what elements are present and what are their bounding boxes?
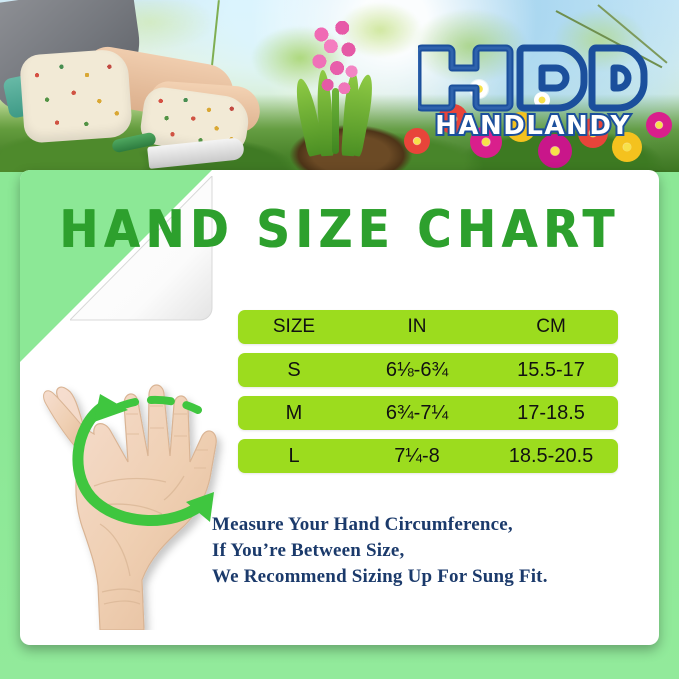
banner-flower	[538, 134, 572, 168]
cell-in-l: 7¼-8	[350, 445, 484, 468]
table-header-row: SIZE IN CM	[238, 310, 618, 344]
cell-cm-l: 18.5-20.5	[484, 445, 618, 468]
table-row-small: S 6⅛-6¾ 15.5-17	[238, 353, 618, 387]
logo-wordmark: HANDLANDY	[435, 111, 631, 138]
cell-size-l: L	[238, 445, 350, 468]
cell-cm-s: 15.5-17	[484, 359, 618, 382]
cell-size-m: M	[238, 402, 350, 425]
column-header-in: IN	[350, 316, 484, 338]
column-header-cm: CM	[484, 316, 618, 338]
sizing-instructions-line-3: We Recommend Sizing Up For Sung Fit.	[212, 564, 548, 590]
banner-floral-glove	[19, 48, 133, 143]
column-header-size: SIZE	[238, 316, 350, 338]
table-row-large: L 7¼-8 18.5-20.5	[238, 439, 618, 473]
page-title-text: HAND SIZE CHART	[59, 199, 619, 259]
cell-size-s: S	[238, 359, 350, 382]
sizing-instructions: Measure Your Hand Circumference, If You’…	[212, 512, 548, 590]
page-title: HAND SIZE CHART	[20, 202, 659, 256]
cell-in-s: 6⅛-6¾	[350, 359, 484, 382]
table-row-medium: M 6¾-7¼ 17-18.5	[238, 396, 618, 430]
brand-logo: HANDLANDY	[418, 42, 648, 138]
cell-in-m: 6¾-7¼	[350, 402, 484, 425]
sizing-instructions-line-1: Measure Your Hand Circumference,	[212, 512, 548, 538]
size-table: SIZE IN CM S 6⅛-6¾ 15.5-17 M 6¾-7¼ 17-18…	[238, 310, 618, 482]
banner-flower	[646, 112, 672, 138]
banner-pink-hyacinth-flower	[310, 16, 362, 100]
cell-cm-m: 17-18.5	[484, 402, 618, 425]
hand-size-chart-card: HAND SIZE CHART	[20, 170, 659, 645]
hand-size-chart-page: HANDLANDY HAND SIZE CHART	[0, 0, 679, 679]
sizing-instructions-line-2: If You’re Between Size,	[212, 538, 548, 564]
